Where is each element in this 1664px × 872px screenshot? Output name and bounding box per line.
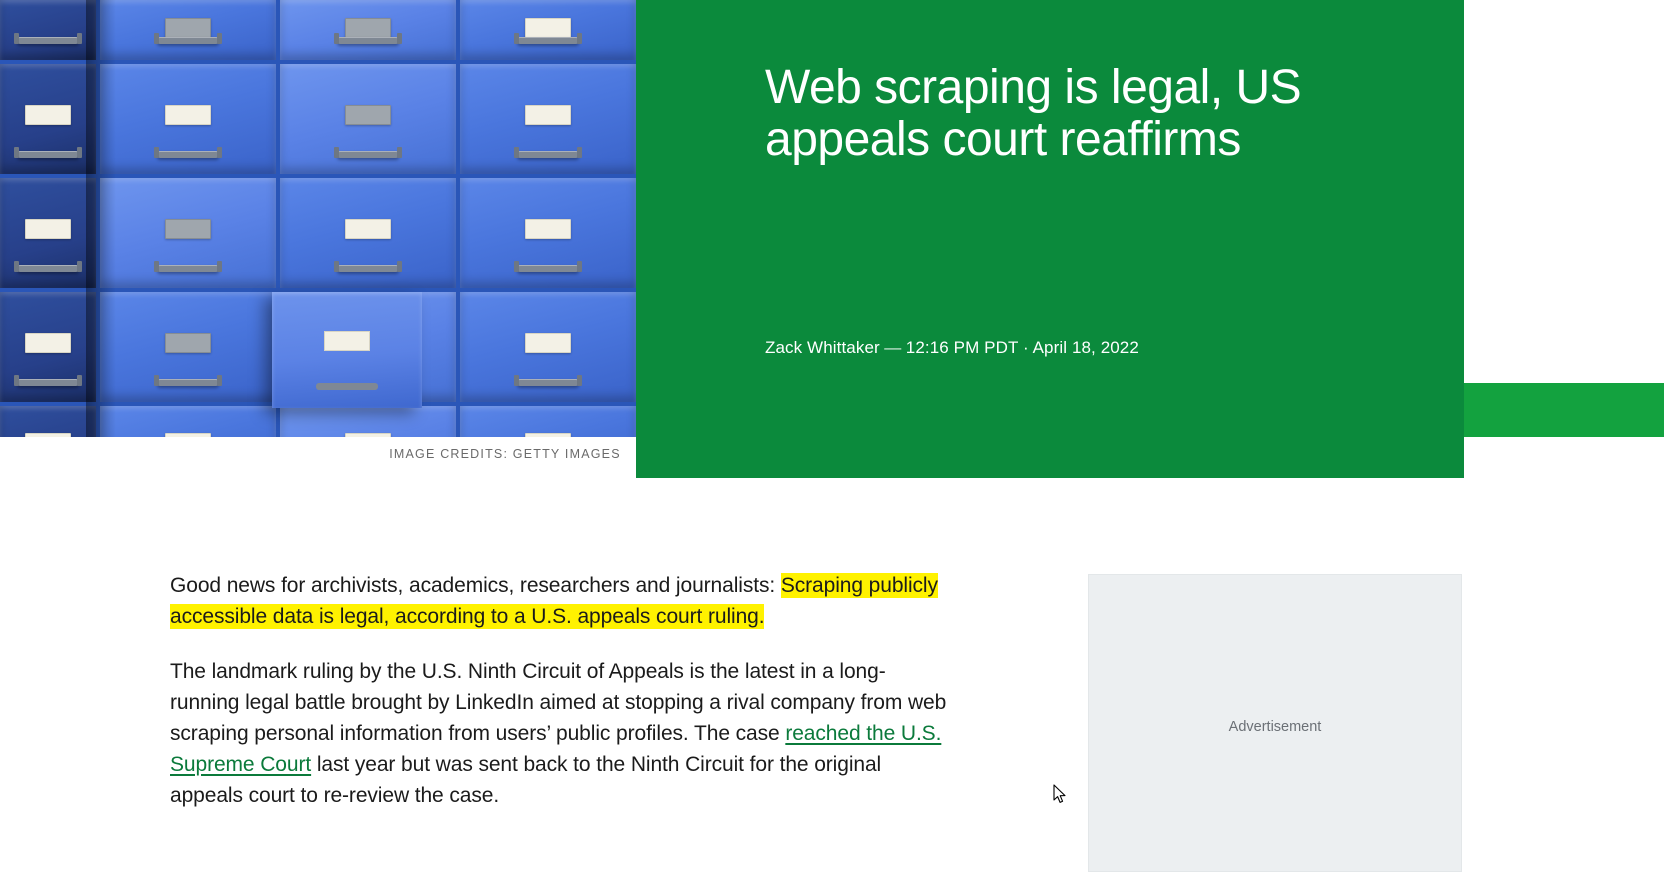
drawer-label <box>25 333 71 353</box>
cabinet-drawer <box>100 0 276 60</box>
paragraph-body: The landmark ruling by the U.S. Ninth Ci… <box>170 656 950 811</box>
cabinet-drawer <box>460 178 636 288</box>
cabinet-drawer <box>100 178 276 288</box>
cabinet-drawer <box>0 178 96 288</box>
page-title: Web scraping is legal, US appeals court … <box>765 62 1385 166</box>
cabinet-drawer <box>460 406 636 437</box>
advertisement-label: Advertisement <box>1089 719 1461 735</box>
byline: Zack Whittaker—12:16 PM PDT · April 18, … <box>765 338 1139 358</box>
drawer-handle-icon <box>17 265 79 272</box>
drawer-label <box>165 105 211 125</box>
open-cabinet-drawer <box>272 292 422 408</box>
cabinet-drawer <box>0 64 96 174</box>
advertisement-placeholder[interactable]: Advertisement <box>1088 574 1462 872</box>
drawer-label <box>25 219 71 239</box>
drawer-label <box>25 105 71 125</box>
paragraph-lead: Good news for archivists, academics, res… <box>170 570 950 632</box>
cabinet-drawer <box>280 178 456 288</box>
cabinet-drawer <box>280 406 456 437</box>
drawer-handle-icon <box>157 37 219 44</box>
cabinet-drawer <box>280 64 456 174</box>
cabinet-drawer <box>0 0 96 60</box>
cabinet-drawer <box>460 0 636 60</box>
mouse-pointer-icon <box>1053 784 1067 804</box>
cabinet-drawer <box>280 0 456 60</box>
drawer-handle-icon <box>157 151 219 158</box>
drawer-handle-icon <box>17 151 79 158</box>
drawer-label <box>525 333 571 353</box>
drawer-handle-icon <box>17 379 79 386</box>
drawer-label <box>345 18 391 38</box>
drawer-handle-icon <box>316 383 378 390</box>
drawer-label <box>525 105 571 125</box>
drawer-label <box>525 18 571 38</box>
drawer-label <box>165 433 211 437</box>
cabinet-drawer <box>100 292 276 402</box>
cabinet-drawer <box>100 406 276 437</box>
headline-panel: Web scraping is legal, US appeals court … <box>636 0 1464 478</box>
drawer-label <box>165 18 211 38</box>
byline-author[interactable]: Zack Whittaker <box>765 338 880 357</box>
drawer-label <box>345 433 391 437</box>
cabinet-drawer <box>460 292 636 402</box>
drawer-handle-icon <box>517 37 579 44</box>
drawer-label <box>345 105 391 125</box>
byline-separator: — <box>880 338 906 358</box>
drawer-handle-icon <box>17 37 79 44</box>
drawer-handle-icon <box>517 379 579 386</box>
article-page: Web scraping is legal, US appeals court … <box>0 0 1664 872</box>
green-accent-strip <box>1464 383 1664 437</box>
drawer-label <box>165 219 211 239</box>
drawer-label <box>525 433 571 437</box>
drawer-handle-icon <box>517 151 579 158</box>
article-body: Good news for archivists, academics, res… <box>170 570 950 833</box>
image-credits: IMAGE CREDITS: GETTY IMAGES <box>0 447 1010 461</box>
byline-timestamp: 12:16 PM PDT · April 18, 2022 <box>906 338 1139 357</box>
drawer-label <box>324 331 370 351</box>
drawer-handle-icon <box>337 265 399 272</box>
cabinet-drawer <box>0 292 96 402</box>
drawer-handle-icon <box>337 151 399 158</box>
drawer-label <box>25 433 71 437</box>
drawer-handle-icon <box>337 37 399 44</box>
lead-prefix-text: Good news for archivists, academics, res… <box>170 574 781 597</box>
drawer-label <box>165 333 211 353</box>
cabinet-drawer <box>0 406 96 437</box>
hero-section: Web scraping is legal, US appeals court … <box>0 0 1664 478</box>
photo-shadow <box>86 0 116 437</box>
cabinet-drawer <box>460 64 636 174</box>
drawer-handle-icon <box>157 265 219 272</box>
hero-image-filing-cabinets <box>0 0 636 437</box>
drawer-label <box>525 219 571 239</box>
cabinet-drawer <box>100 64 276 174</box>
drawer-label <box>345 219 391 239</box>
drawer-handle-icon <box>157 379 219 386</box>
drawer-handle-icon <box>517 265 579 272</box>
